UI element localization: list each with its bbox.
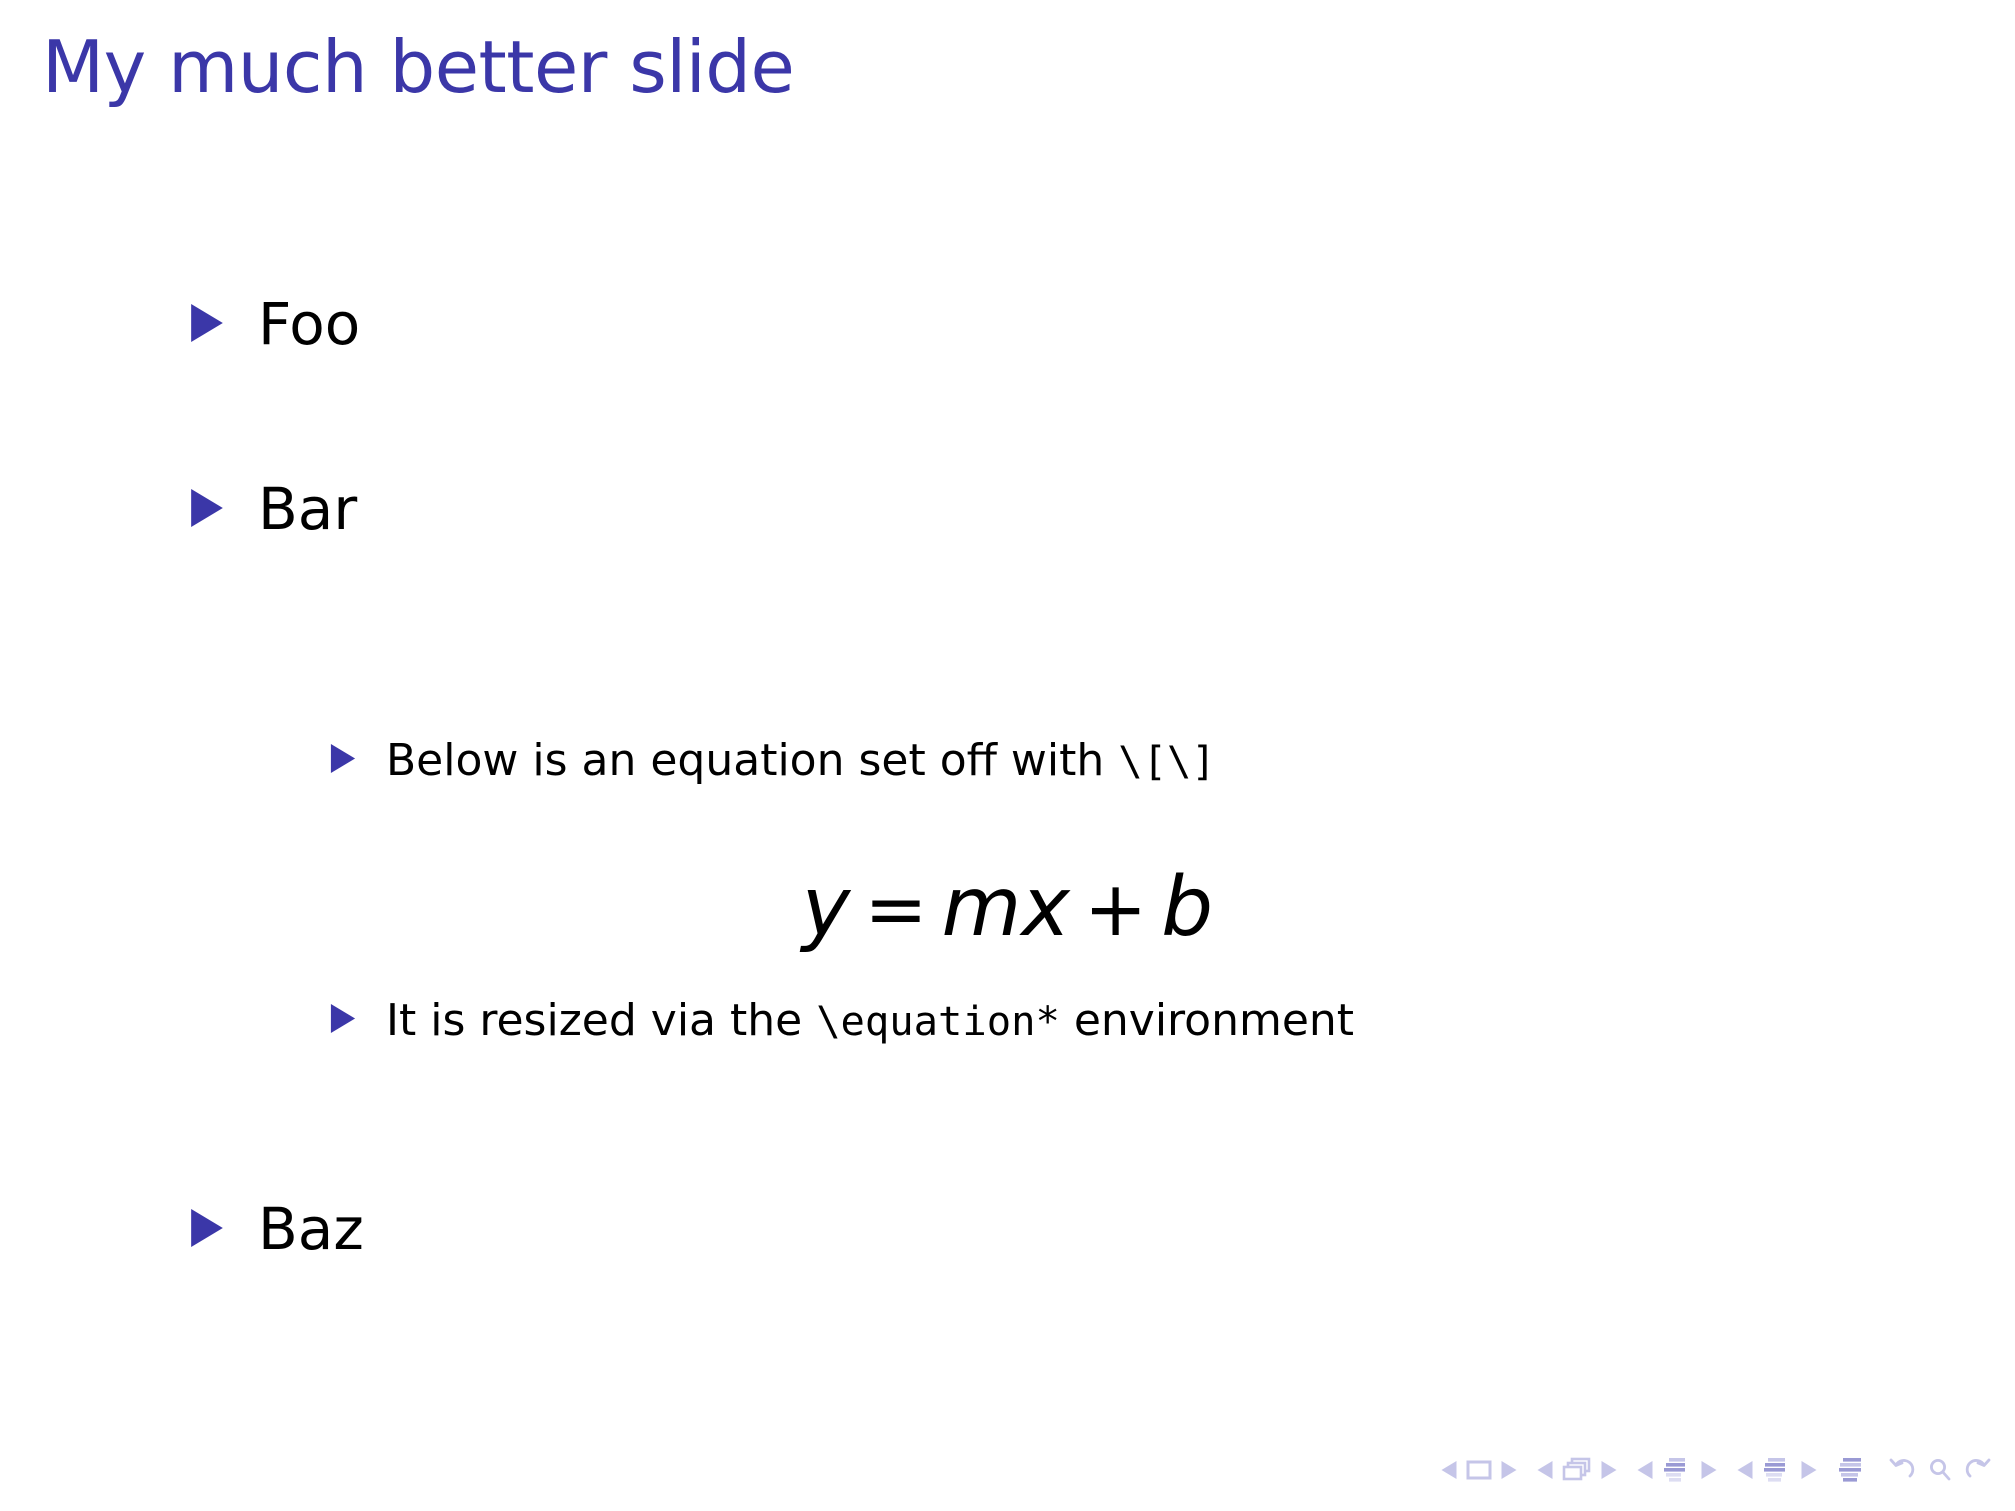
equation-term-one: mx	[942, 860, 1070, 955]
list-item-foo[interactable]: Foo	[190, 290, 360, 358]
nav-presentation-marker-lines-block-icon[interactable]	[1837, 1456, 1867, 1484]
nav-group-subsection	[1637, 1456, 1717, 1484]
bullet-triangle-icon	[330, 744, 366, 773]
nav-subsection-prev-left-triangle-icon[interactable]	[1637, 1461, 1653, 1479]
equation-equals: =	[850, 865, 941, 953]
nav-subsection-marker-lines-block-icon[interactable]	[1662, 1456, 1692, 1484]
beamer-slide: My much better slide Foo Bar Below is an…	[0, 0, 2015, 1511]
nav-section-next-right-triangle-icon[interactable]	[1801, 1461, 1817, 1479]
nav-forward-arrow-redo-arc-icon[interactable]	[1963, 1456, 1993, 1484]
list-item-label: Bar	[258, 475, 357, 543]
list-item-text-before: It is resized via the	[386, 995, 816, 1046]
nav-group-section	[1737, 1456, 1817, 1484]
list-item-label: It is resized via the \equation* environ…	[386, 995, 1354, 1046]
nav-section-marker-lines-block-icon[interactable]	[1762, 1456, 1792, 1484]
bullet-triangle-icon	[190, 1209, 236, 1247]
list-item-equation-intro[interactable]: Below is an equation set off with \[\]	[330, 735, 1216, 786]
nav-section-prev-left-triangle-icon[interactable]	[1737, 1461, 1753, 1479]
page-title: My much better slide	[42, 28, 794, 107]
equation-plus: +	[1070, 865, 1161, 953]
bullet-triangle-icon	[330, 1004, 366, 1033]
display-equation: y=mx+b	[0, 860, 2015, 955]
nav-group-slide	[1441, 1459, 1517, 1481]
list-item-baz[interactable]: Baz	[190, 1195, 364, 1263]
equation-term-two: b	[1161, 860, 1213, 955]
list-item-label: Baz	[258, 1195, 364, 1263]
nav-slide-marker-frame-box-icon[interactable]	[1466, 1459, 1492, 1481]
list-item-equation-note[interactable]: It is resized via the \equation* environ…	[330, 995, 1354, 1046]
nav-group-controls	[1887, 1456, 1993, 1484]
list-item-text-before: Below is an equation set off with	[386, 735, 1118, 786]
nav-search-magnifier-icon[interactable]	[1926, 1456, 1954, 1484]
nav-subsection-next-right-triangle-icon[interactable]	[1701, 1461, 1717, 1479]
beamer-navigation-bar[interactable]	[1441, 1447, 1993, 1493]
nav-frame-next-right-triangle-icon[interactable]	[1601, 1461, 1617, 1479]
nav-slide-prev-left-triangle-icon[interactable]	[1441, 1461, 1457, 1479]
bullet-triangle-icon	[190, 304, 236, 342]
nav-frame-prev-left-triangle-icon[interactable]	[1537, 1461, 1553, 1479]
nav-frame-marker-stacked-frames-icon[interactable]	[1562, 1457, 1592, 1483]
list-item-code: \equation*	[816, 997, 1060, 1045]
bullet-triangle-icon	[190, 489, 236, 527]
list-item-code: \[\]	[1118, 737, 1215, 785]
equation-lhs: y	[802, 860, 851, 955]
list-item-label: Foo	[258, 290, 360, 358]
list-item-bar[interactable]: Bar	[190, 475, 357, 543]
nav-group-frame	[1537, 1457, 1617, 1483]
list-item-label: Below is an equation set off with \[\]	[386, 735, 1216, 786]
list-item-text-after: environment	[1060, 995, 1354, 1046]
nav-back-arrow-undo-arc-icon[interactable]	[1887, 1456, 1917, 1484]
nav-slide-next-right-triangle-icon[interactable]	[1501, 1461, 1517, 1479]
nav-group-presentation	[1837, 1456, 1867, 1484]
